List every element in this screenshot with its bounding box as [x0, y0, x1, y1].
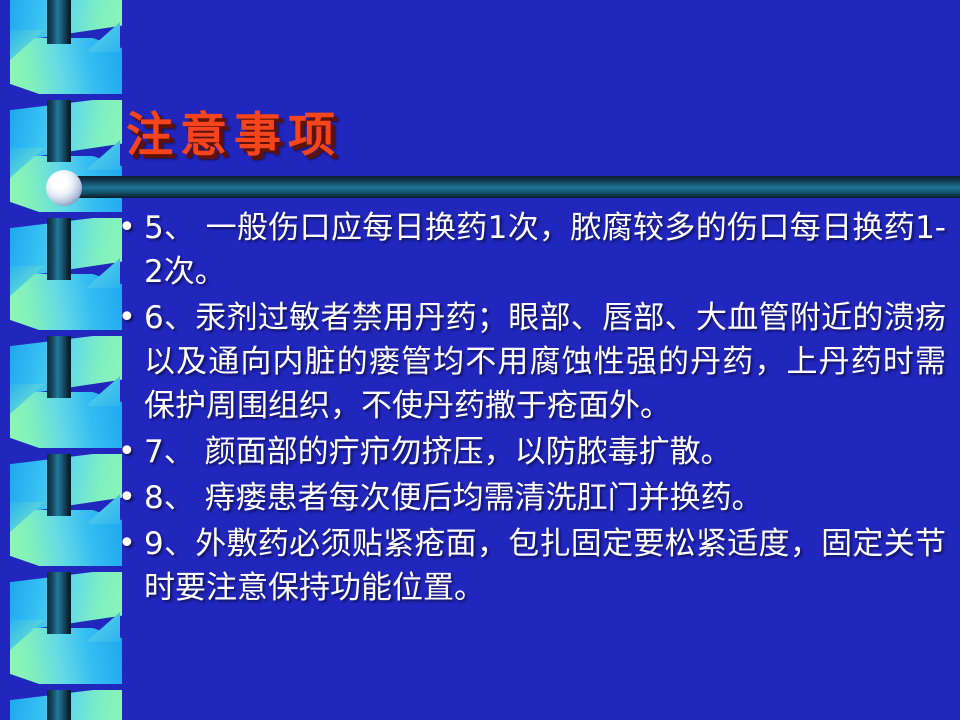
list-item-text: 7、 颜面部的疔疖勿挤压，以防脓毒扩散。	[144, 430, 946, 474]
list-item-text: 6、汞剂过敏者禁用丹药；眼部、唇部、大血管附近的溃疡以及通向内脏的瘘管均不用腐蚀…	[144, 296, 946, 428]
title-divider-bar	[70, 176, 960, 198]
presentation-slide: 注意事项 • 5、 一般伤口应每日换药1次，脓腐较多的伤口每日换药1-2次。 •…	[0, 0, 960, 720]
bullet-list: • 5、 一般伤口应每日换药1次，脓腐较多的伤口每日换药1-2次。 • 6、汞剂…	[118, 206, 946, 612]
pole-segment	[47, 336, 71, 398]
pole-segment	[47, 100, 71, 162]
bullet-marker-icon: •	[118, 476, 144, 520]
list-item-text: 5、 一般伤口应每日换药1次，脓腐较多的伤口每日换药1-2次。	[144, 206, 946, 294]
pole-segment	[47, 218, 71, 280]
pole-segment	[47, 572, 71, 634]
bullet-marker-icon: •	[118, 522, 144, 566]
pole-segment	[47, 0, 71, 44]
divider-knob-sphere	[46, 170, 82, 206]
list-item-text: 8、 痔瘘患者每次便后均需清洗肛门并换药。	[144, 476, 946, 520]
list-item-text: 9、外敷药必须贴紧疮面，包扎固定要松紧适度，固定关节时要注意保持功能位置。	[144, 522, 946, 610]
list-item: • 7、 颜面部的疔疖勿挤压，以防脓毒扩散。	[118, 430, 946, 474]
pole-segment	[47, 690, 71, 720]
bullet-marker-icon: •	[118, 206, 144, 250]
page-title: 注意事项	[126, 96, 342, 165]
pole-segment	[47, 454, 71, 516]
list-item: • 5、 一般伤口应每日换药1次，脓腐较多的伤口每日换药1-2次。	[118, 206, 946, 294]
list-item: • 8、 痔瘘患者每次便后均需清洗肛门并换药。	[118, 476, 946, 520]
bullet-marker-icon: •	[118, 430, 144, 474]
list-item: • 9、外敷药必须贴紧疮面，包扎固定要松紧适度，固定关节时要注意保持功能位置。	[118, 522, 946, 610]
bullet-marker-icon: •	[118, 296, 144, 340]
list-item: • 6、汞剂过敏者禁用丹药；眼部、唇部、大血管附近的溃疡以及通向内脏的瘘管均不用…	[118, 296, 946, 428]
